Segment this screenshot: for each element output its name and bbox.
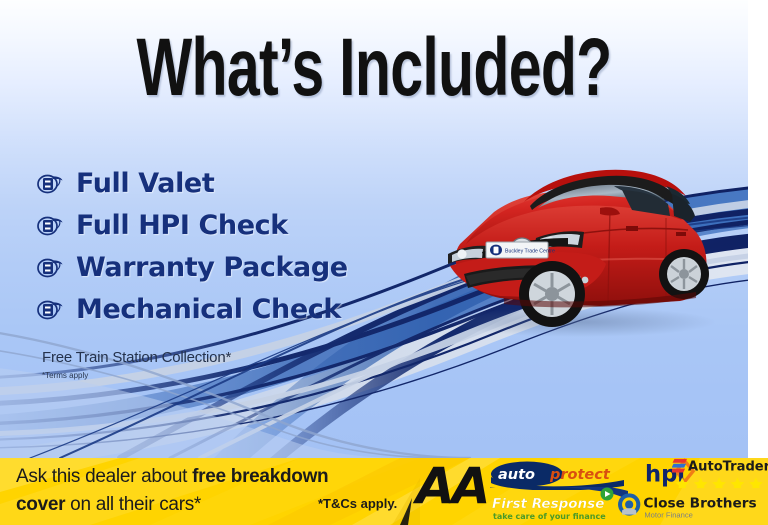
promo-line2-bold: cover — [16, 494, 65, 515]
close-brothers-logo: Close Brothers Motor Finance — [616, 490, 768, 524]
promo-line2-plain: on all their cars* — [65, 494, 201, 515]
list-item-label: Full HPI Check — [76, 210, 288, 241]
poster-artwork-panel: What’s Included? Full Valet — [0, 0, 748, 458]
svg-text:AutoTrader: AutoTrader — [688, 460, 768, 475]
svg-text:protect: protect — [549, 467, 611, 483]
autotrader-logo: AutoTrader — [672, 456, 768, 488]
promo-line1-plain: Ask this dealer about — [16, 466, 192, 487]
features-list: Full Valet Full HPI Check — [34, 163, 414, 331]
page-title: What’s Included? — [105, 24, 644, 112]
buckley-b-logo-icon — [34, 214, 64, 238]
buckley-b-logo-icon — [34, 172, 64, 196]
front-wheel — [519, 261, 585, 327]
list-item: Warranty Package — [34, 247, 414, 288]
svg-text:Close Brothers: Close Brothers — [643, 496, 756, 512]
collection-offer-text: Free Train Station Collection* — [42, 349, 231, 366]
buckley-b-logo-icon — [34, 298, 64, 322]
svg-text:Buckley Trade Centre: Buckley Trade Centre — [505, 249, 555, 255]
number-plate: Buckley Trade Centre — [486, 242, 555, 258]
rear-wheel — [659, 249, 709, 299]
close-brothers-mark-icon — [618, 493, 640, 515]
list-item-label: Warranty Package — [76, 252, 348, 283]
rating-stars — [675, 477, 762, 488]
list-item: Mechanical Check — [34, 289, 414, 330]
autoprotect-logo: auto protect — [490, 460, 625, 490]
banner-terms-text: *T&Cs apply. — [318, 496, 397, 511]
terms-note: *Terms apply — [42, 371, 88, 380]
list-item-label: Mechanical Check — [76, 294, 341, 325]
svg-text:First Response: First Response — [492, 496, 604, 512]
svg-text:take care of your finance: take care of your finance — [493, 512, 606, 521]
buckley-b-logo-icon — [34, 256, 64, 280]
list-item: Full HPI Check — [34, 205, 414, 246]
first-response-logo: First Response take care of your finance — [490, 487, 630, 523]
aa-logo: AA — [416, 460, 487, 512]
list-item-label: Full Valet — [76, 168, 214, 199]
list-item: Full Valet — [34, 163, 414, 204]
promo-line1-bold: free breakdown — [192, 466, 328, 487]
advert-poster: What’s Included? Full Valet — [0, 0, 768, 525]
autotrader-stripes-icon — [672, 459, 687, 473]
svg-text:Motor Finance: Motor Finance — [644, 511, 693, 520]
car-photo-red-volkswagen-polo: Buckley Trade Centre — [404, 146, 748, 342]
svg-text:auto: auto — [498, 467, 535, 483]
